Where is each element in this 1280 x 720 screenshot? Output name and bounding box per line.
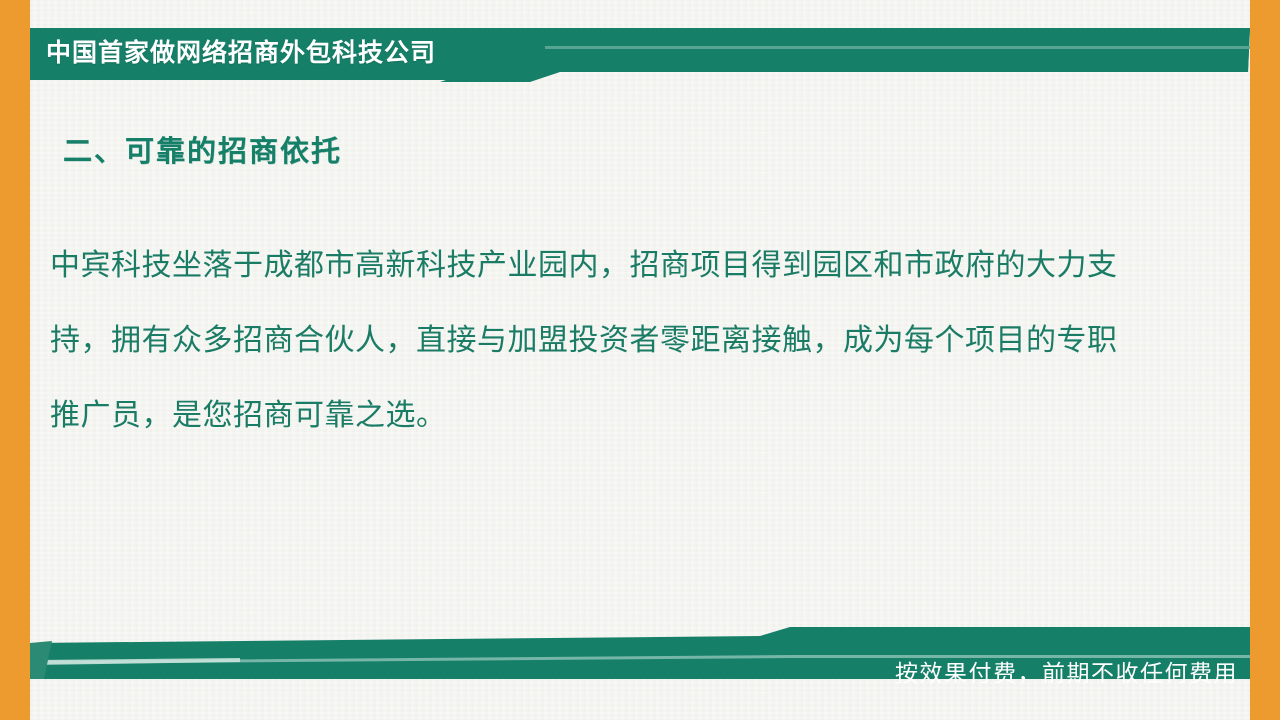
body-paragraph: 中宾科技坐落于成都市高新科技产业园内，招商项目得到园区和市政府的大力支 持，拥有… xyxy=(50,228,1190,453)
body-line: 推广员，是您招商可靠之选。 xyxy=(50,378,1190,453)
section-heading: 二、可靠的招商依托 xyxy=(63,135,342,170)
body-line: 中宾科技坐落于成都市高新科技产业园内，招商项目得到园区和市政府的大力支 xyxy=(50,228,1190,303)
body-line: 持，拥有众多招商合伙人，直接与加盟投资者零距离接触，成为每个项目的专职 xyxy=(50,303,1190,378)
presentation-slide: 中国首家做网络招商外包科技公司 二、可靠的招商依托 中宾科技坐落于成都市高新科技… xyxy=(0,0,1280,720)
